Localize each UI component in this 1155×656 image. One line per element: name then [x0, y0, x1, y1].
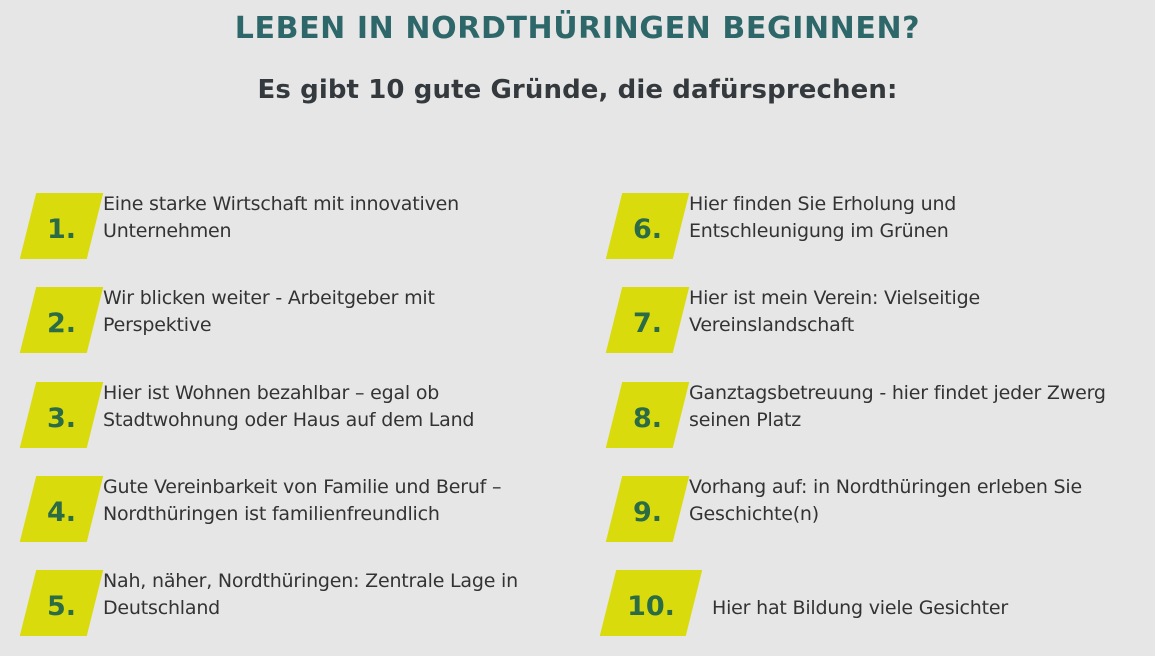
reason-number-badge-3: 3.	[20, 382, 103, 448]
reason-number-label: 6.	[614, 193, 681, 259]
reason-number-badge-6: 6.	[606, 193, 689, 259]
reason-text-7: Hier ist mein Verein: Vielseitige Verein…	[689, 285, 1139, 339]
reason-item-5: 5. Nah, näher, Nordthüringen: Zentrale L…	[14, 562, 574, 656]
reason-number-label: 3.	[28, 382, 95, 448]
reason-number-badge-5: 5.	[20, 570, 103, 636]
reasons-column-right: 6. Hier finden Sie Erholung und Entschle…	[600, 185, 1155, 647]
reasons-column-left: 1. Eine starke Wirtschaft mit innovative…	[14, 185, 574, 647]
reason-number-badge-8: 8.	[606, 382, 689, 448]
reasons-list: 1. Eine starke Wirtschaft mit innovative…	[0, 185, 1155, 647]
heading-block: LEBEN IN NORDTHÜRINGEN BEGINNEN? Es gibt…	[0, 0, 1155, 106]
reason-number-badge-4: 4.	[20, 476, 103, 542]
reason-item-1: 1. Eine starke Wirtschaft mit innovative…	[14, 185, 574, 279]
reason-number-badge-9: 9.	[606, 476, 689, 542]
reason-number-label: 8.	[614, 382, 681, 448]
reason-text-2: Wir blicken weiter - Arbeitgeber mit Per…	[103, 285, 553, 339]
reason-text-10: Hier hat Bildung viele Gesichter	[712, 595, 1155, 622]
reason-number-badge-2: 2.	[20, 287, 103, 353]
reason-text-8: Ganztagsbetreuung - hier findet jeder Zw…	[689, 380, 1139, 434]
reason-item-8: 8. Ganztagsbetreuung - hier findet jeder…	[600, 374, 1155, 468]
reason-item-7: 7. Hier ist mein Verein: Vielseitige Ver…	[600, 279, 1155, 373]
reason-number-label: 7.	[614, 287, 681, 353]
reason-text-3: Hier ist Wohnen bezahlbar – egal ob Stad…	[103, 380, 553, 434]
reason-number-label: 4.	[28, 476, 95, 542]
infographic-poster: LEBEN IN NORDTHÜRINGEN BEGINNEN? Es gibt…	[0, 0, 1155, 647]
reason-text-5: Nah, näher, Nordthüringen: Zentrale Lage…	[103, 568, 553, 622]
page-title: LEBEN IN NORDTHÜRINGEN BEGINNEN?	[0, 0, 1155, 48]
reason-number-badge-10: 10.	[600, 570, 702, 636]
reason-item-10: 10. Hier hat Bildung viele Gesichter	[600, 562, 1155, 656]
reason-text-9: Vorhang auf: in Nordthüringen erleben Si…	[689, 474, 1139, 528]
reason-number-label: 2.	[28, 287, 95, 353]
reason-number-badge-1: 1.	[20, 193, 103, 259]
reason-text-6: Hier finden Sie Erholung und Entschleuni…	[689, 191, 1139, 245]
reason-text-4: Gute Vereinbarkeit von Familie und Beruf…	[103, 474, 553, 528]
reason-number-label: 9.	[614, 476, 681, 542]
reason-number-label: 5.	[28, 570, 95, 636]
reason-item-9: 9. Vorhang auf: in Nordthüringen erleben…	[600, 468, 1155, 562]
reason-number-badge-7: 7.	[606, 287, 689, 353]
reason-text-1: Eine starke Wirtschaft mit innovativen U…	[103, 191, 553, 245]
reason-item-4: 4. Gute Vereinbarkeit von Familie und Be…	[14, 468, 574, 562]
reason-item-6: 6. Hier finden Sie Erholung und Entschle…	[600, 185, 1155, 279]
reason-number-label: 10.	[608, 570, 694, 636]
reason-item-3: 3. Hier ist Wohnen bezahlbar – egal ob S…	[14, 374, 574, 468]
reason-number-label: 1.	[28, 193, 95, 259]
page-subtitle: Es gibt 10 gute Gründe, die dafürspreche…	[0, 48, 1155, 107]
reason-item-2: 2. Wir blicken weiter - Arbeitgeber mit …	[14, 279, 574, 373]
